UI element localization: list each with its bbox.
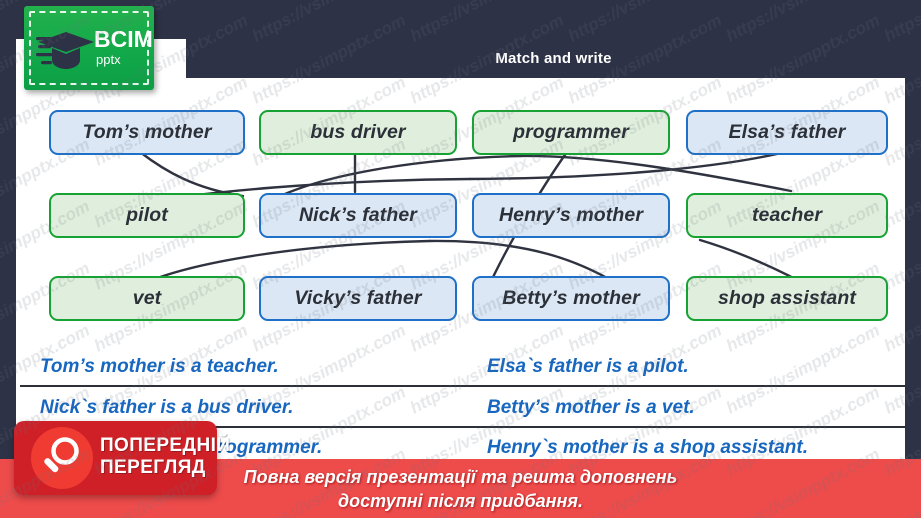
answer-right-3: Henry`s mother is a shop assistant. bbox=[487, 437, 808, 459]
magnifier-icon bbox=[31, 427, 93, 489]
answer-left-2: Nick`s father is a bus driver. bbox=[40, 397, 293, 419]
answer-left-1: Tom’s mother is a teacher. bbox=[40, 356, 279, 378]
match-cell-r3-c1[interactable]: vet bbox=[49, 276, 245, 321]
answer-rule-right-2 bbox=[467, 426, 905, 428]
preview-badge: ПОПЕРЕДНІЙ ПЕРЕГЛЯД bbox=[14, 421, 217, 495]
slide: Match and write BCIM pptx bbox=[0, 0, 921, 518]
match-cell-label: teacher bbox=[752, 204, 822, 227]
match-cell-label: Vicky’s father bbox=[294, 287, 421, 310]
match-cell-label: shop assistant bbox=[718, 287, 856, 310]
match-cell-label: vet bbox=[133, 287, 161, 310]
match-cell-label: Elsa’s father bbox=[729, 121, 846, 144]
preview-badge-label: ПОПЕРЕДНІЙ ПЕРЕГЛЯД bbox=[100, 435, 230, 479]
match-cell-r1-c1[interactable]: Tom’s mother bbox=[49, 110, 245, 155]
match-cell-r2-c1[interactable]: pilot bbox=[49, 193, 245, 238]
match-cell-label: bus driver bbox=[310, 121, 405, 144]
match-cell-r3-c2[interactable]: Vicky’s father bbox=[259, 276, 457, 321]
answer-rule-left-1 bbox=[20, 385, 476, 387]
match-cell-label: Betty’s mother bbox=[502, 287, 640, 310]
answer-rule-right-1 bbox=[467, 385, 905, 387]
match-cell-r1-c3[interactable]: programmer bbox=[472, 110, 670, 155]
answer-right-1: Elsa`s father is a pilot. bbox=[487, 356, 689, 378]
match-cell-r3-c3[interactable]: Betty’s mother bbox=[472, 276, 670, 321]
banner-line-2: доступні після придбання. bbox=[338, 489, 583, 513]
match-cell-label: Tom’s mother bbox=[82, 121, 211, 144]
match-cell-label: Henry’s mother bbox=[499, 204, 643, 227]
banner-line-1: Повна версія презентації та решта доповн… bbox=[244, 465, 678, 489]
match-cell-label: programmer bbox=[513, 121, 629, 144]
preview-badge-line-2: ПЕРЕГЛЯД bbox=[100, 457, 230, 479]
answer-right-2: Betty’s mother is a vet. bbox=[487, 397, 695, 419]
match-cell-r1-c4[interactable]: Elsa’s father bbox=[686, 110, 888, 155]
match-cell-r2-c4[interactable]: teacher bbox=[686, 193, 888, 238]
match-cell-r1-c2[interactable]: bus driver bbox=[259, 110, 457, 155]
preview-badge-line-1: ПОПЕРЕДНІЙ bbox=[100, 435, 230, 457]
match-cell-r2-c3[interactable]: Henry’s mother bbox=[472, 193, 670, 238]
match-cell-r2-c2[interactable]: Nick’s father bbox=[259, 193, 457, 238]
match-cell-r3-c4[interactable]: shop assistant bbox=[686, 276, 888, 321]
match-cell-label: pilot bbox=[126, 204, 168, 227]
match-cell-label: Nick’s father bbox=[299, 204, 417, 227]
